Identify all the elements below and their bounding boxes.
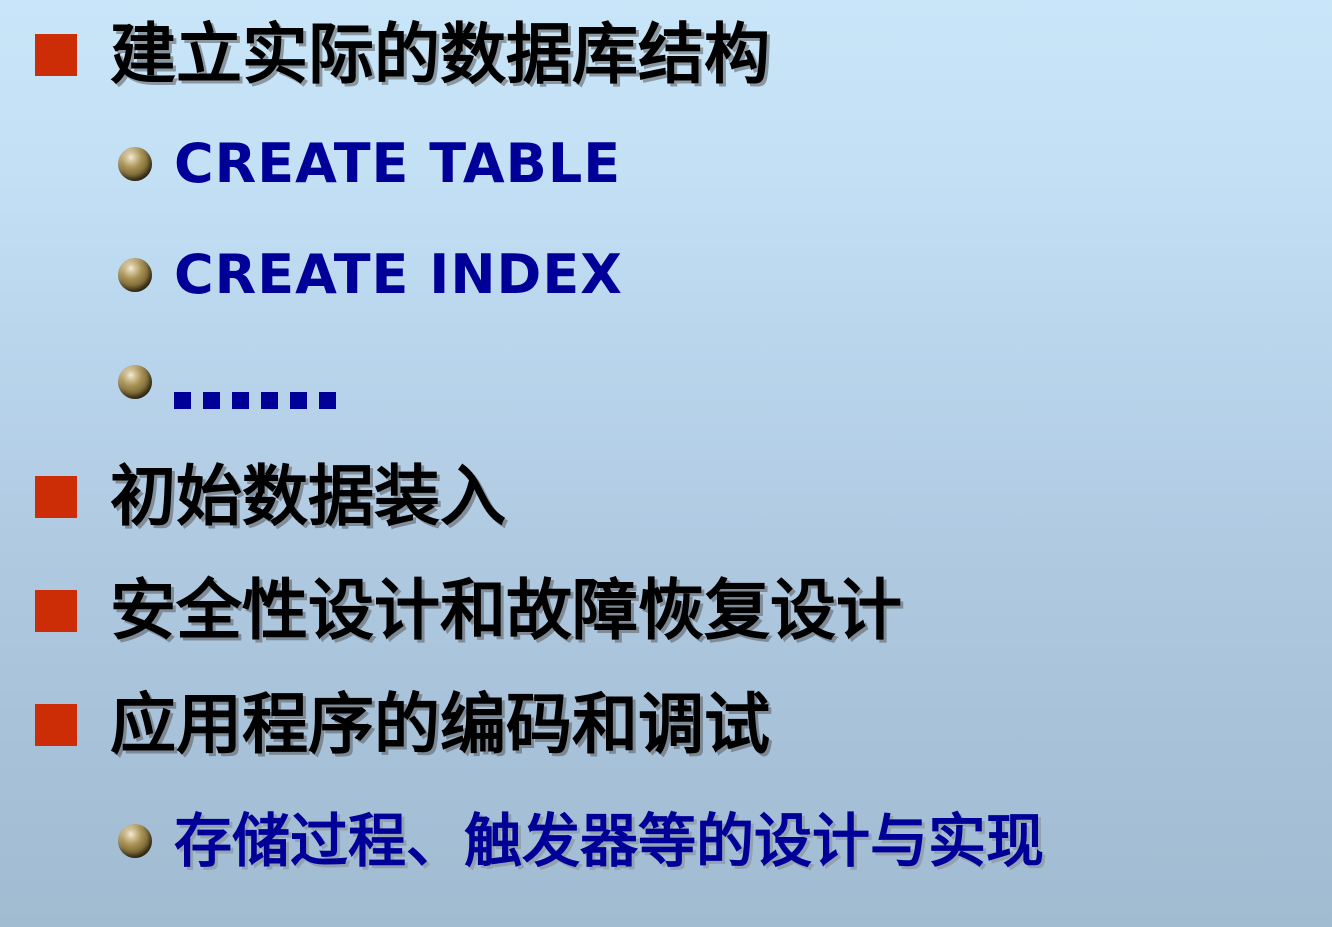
red-square-bullet-icon [35,34,77,76]
bullet-text: 安全性设计和故障恢复设计 [110,578,902,644]
bullet-row-level2-4[interactable]: 存储过程、触发器等的设计与实现 [118,812,1044,870]
bronze-sphere-bullet-icon [118,147,152,181]
ellipsis-dot [319,392,336,409]
slide-canvas: 建立实际的数据库结构 CREATE TABLE CREATE INDEX 初始数… [0,0,1332,927]
bullet-row-level1-1[interactable]: 建立实际的数据库结构 [35,22,770,88]
bullet-row-level2-3[interactable] [118,355,336,409]
ellipsis-dot [290,392,307,409]
bullet-row-level1-2[interactable]: 初始数据装入 [35,464,506,530]
ellipsis-dot [174,392,191,409]
bullet-text: CREATE TABLE [174,137,621,191]
red-square-bullet-icon [35,590,77,632]
ellipsis-dot [203,392,220,409]
bullet-text: 建立实际的数据库结构 [110,22,770,88]
ellipsis-dot [261,392,278,409]
bronze-sphere-bullet-icon [118,824,152,858]
bullet-text: 初始数据装入 [110,464,506,530]
bullet-row-level1-3[interactable]: 安全性设计和故障恢复设计 [35,578,902,644]
red-square-bullet-icon [35,704,77,746]
bullet-text-ellipsis [174,355,336,409]
bullet-row-level2-1[interactable]: CREATE TABLE [118,137,621,191]
red-square-bullet-icon [35,476,77,518]
ellipsis-dot [232,392,249,409]
bullet-row-level1-4[interactable]: 应用程序的编码和调试 [35,692,770,758]
bullet-text: 存储过程、触发器等的设计与实现 [174,812,1044,870]
bronze-sphere-bullet-icon [118,258,152,292]
bullet-text: 应用程序的编码和调试 [110,692,770,758]
bullet-text: CREATE INDEX [174,248,623,302]
bullet-row-level2-2[interactable]: CREATE INDEX [118,248,623,302]
bronze-sphere-bullet-icon [118,365,152,399]
